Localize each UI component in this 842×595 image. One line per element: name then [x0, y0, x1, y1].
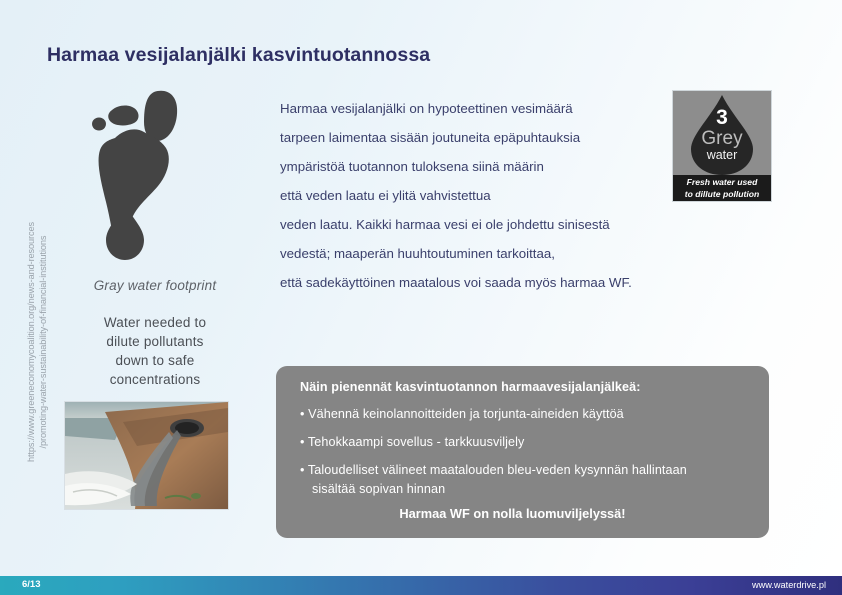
source-url: https://www.greeneconomycoalition.org/ne…	[25, 162, 49, 522]
gray-water-footprint-icon	[82, 84, 198, 266]
footer-bar: 6/13 www.waterdrive.pl	[0, 576, 842, 595]
callout-heading: Näin pienennät kasvintuotannon harmaaves…	[300, 380, 747, 394]
badge-label-primary: Grey	[673, 129, 771, 148]
body-line: tarpeen laimentaa sisään joutuneita epäp…	[280, 123, 650, 152]
grey-water-badge: 3 Grey water Fresh water used to dillute…	[672, 90, 772, 202]
footer-page-number: 6/13	[22, 579, 41, 590]
footer-website: www.waterdrive.pl	[752, 580, 826, 590]
footprint-caption-line: down to safe	[55, 351, 255, 370]
badge-caption: Fresh water used to dillute pollution	[673, 175, 771, 201]
body-line: ympäristöä tuotannon tuloksena siinä mää…	[280, 152, 650, 181]
footprint-caption-line: Water needed to	[55, 313, 255, 332]
badge-caption-line2: to dillute pollution	[673, 189, 771, 201]
wastewater-photo	[64, 401, 229, 510]
body-line: että sadekäyttöinen maatalous voi saada …	[280, 268, 650, 297]
recommendations-callout: Näin pienennät kasvintuotannon harmaaves…	[276, 366, 769, 538]
body-line: että veden laatu ei ylitä vahvistettua	[280, 181, 650, 210]
callout-item: • Tehokkaampi sovellus - tarkkuusviljely	[300, 435, 747, 449]
source-url-line1: https://www.greeneconomycoalition.org/ne…	[25, 162, 37, 522]
body-line: Harmaa vesijalanjälki on hypoteettinen v…	[280, 94, 650, 123]
callout-item-continuation: sisältää sopivan hinnan	[300, 482, 747, 496]
slide: Harmaa vesijalanjälki kasvintuotannossa …	[0, 0, 842, 595]
callout-item: • Vähennä keinolannoitteiden ja torjunta…	[300, 407, 747, 421]
body-paragraph: Harmaa vesijalanjälki on hypoteettinen v…	[280, 94, 650, 297]
body-line: veden laatu. Kaikki harmaa vesi ei ole j…	[280, 210, 650, 239]
callout-item: • Taloudelliset välineet maatalouden ble…	[300, 463, 747, 477]
badge-caption-line1: Fresh water used	[673, 177, 771, 189]
footprint-caption-title: Gray water footprint	[55, 278, 255, 293]
footprint-caption-line: concentrations	[55, 370, 255, 389]
callout-footer-note: Harmaa WF on nolla luomuviljelyssä!	[300, 506, 747, 521]
badge-number: 3	[673, 107, 771, 128]
badge-label-secondary: water	[673, 149, 771, 162]
page-title: Harmaa vesijalanjälki kasvintuotannossa	[47, 44, 430, 67]
source-url-line2: /promoting-water-sustainability-of-finan…	[37, 162, 49, 522]
footprint-caption-line: dilute pollutants	[55, 332, 255, 351]
footprint-caption-body: Water needed to dilute pollutants down t…	[55, 313, 255, 389]
body-line: vedestä; maaperän huuhtoutuminen tarkoit…	[280, 239, 650, 268]
